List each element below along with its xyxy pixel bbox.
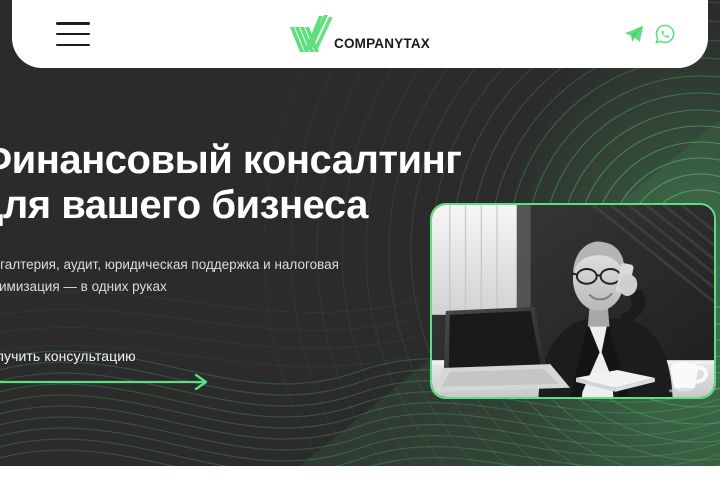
brand-logo[interactable]: COMPANYTAX <box>290 15 430 53</box>
get-consultation-button[interactable]: Получить консультацию <box>0 348 228 390</box>
hamburger-menu-icon[interactable] <box>56 22 90 46</box>
site-header: COMPANYTAX <box>12 0 708 68</box>
social-links <box>623 23 676 45</box>
brand-name: COMPANYTAX <box>334 37 430 54</box>
page-bottom-strip <box>0 466 720 480</box>
hero-section: Финансовый консалтинг для вашего бизнеса… <box>0 0 720 466</box>
businessman-photo <box>432 205 714 397</box>
page-title: Финансовый консалтинг для вашего бизнеса <box>0 138 468 228</box>
landing-page: Финансовый консалтинг для вашего бизнеса… <box>0 0 720 480</box>
whatsapp-icon[interactable] <box>654 23 676 45</box>
hero-photo-card <box>430 203 716 399</box>
arrow-right-icon <box>0 374 228 390</box>
checkmark-stripes-icon <box>290 15 332 53</box>
telegram-icon[interactable] <box>623 23 645 45</box>
cta-label: Получить консультацию <box>0 348 228 364</box>
hero-copy: Финансовый консалтинг для вашего бизнеса… <box>0 138 468 298</box>
hero-subtitle: Бухгалтерия, аудит, юридическая поддержк… <box>0 254 403 299</box>
